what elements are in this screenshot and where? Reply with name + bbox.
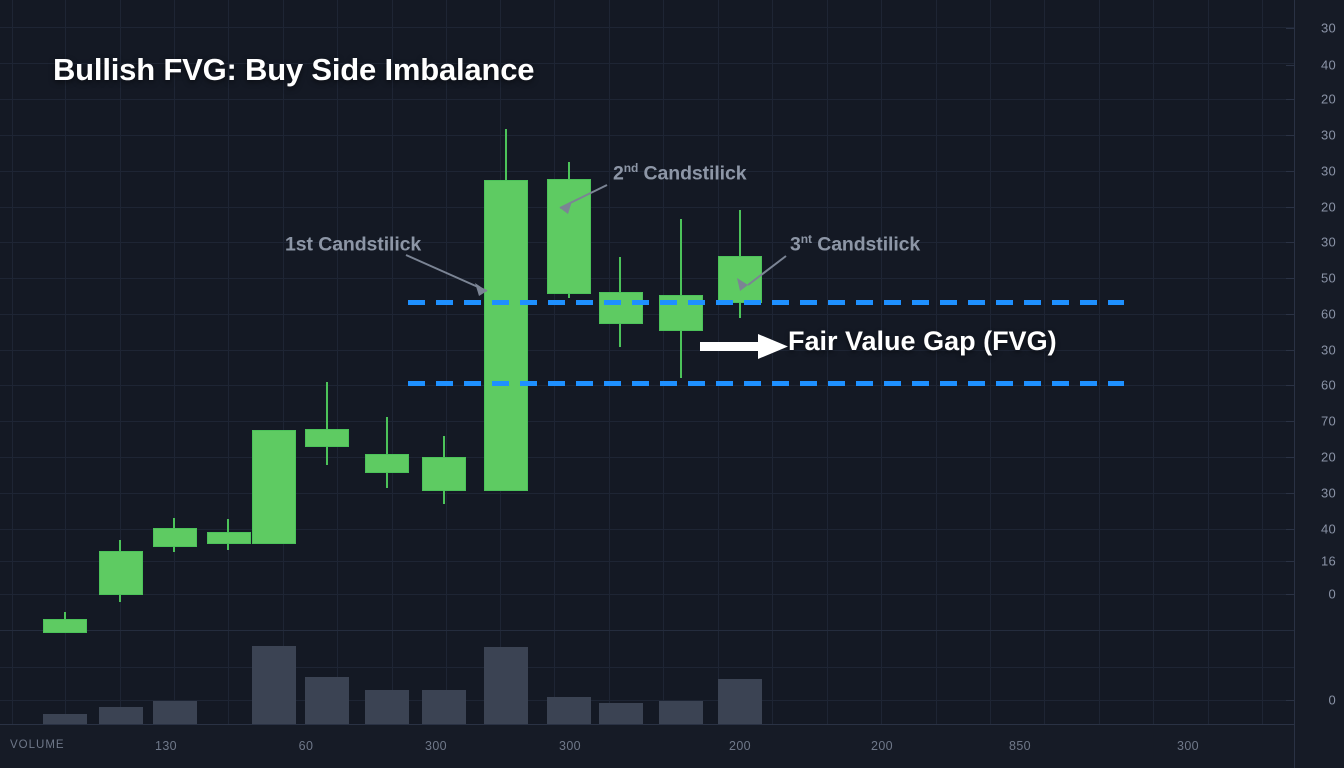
price-axis-label: 50: [1321, 271, 1336, 286]
price-axis-label: 60: [1321, 307, 1336, 322]
time-axis[interactable]: VOLUME 13060300300200200850300: [0, 724, 1294, 768]
price-axis-label: 30: [1321, 486, 1336, 501]
time-axis-label: 300: [425, 739, 447, 753]
time-axis-label: 200: [729, 739, 751, 753]
price-axis-tick: [1286, 594, 1294, 595]
time-axis-label: 850: [1009, 739, 1031, 753]
price-axis-label: 20: [1321, 92, 1336, 107]
price-axis-label: 0: [1328, 587, 1336, 602]
time-axis-label: 60: [299, 739, 314, 753]
price-axis[interactable]: 3040203030203050603060702030401600: [1294, 0, 1344, 768]
time-axis-label: 200: [871, 739, 893, 753]
annotation-second-label: Candstilick: [638, 163, 746, 185]
annotation-second-candlestick: 2nd Candstilick: [613, 161, 746, 186]
price-axis-tick: [1286, 529, 1294, 530]
price-axis-tick: [1286, 561, 1294, 562]
price-axis-label: 20: [1321, 200, 1336, 215]
price-axis-tick: [1286, 700, 1294, 701]
annotation-third-sup: nt: [801, 232, 812, 246]
price-axis-label: 30: [1321, 21, 1336, 36]
annotation-leader-lines: [0, 0, 1344, 768]
price-axis-tick: [1286, 421, 1294, 422]
price-axis-label: 16: [1321, 554, 1336, 569]
price-axis-tick: [1286, 278, 1294, 279]
price-axis-label: 20: [1321, 450, 1336, 465]
price-axis-label: 30: [1321, 164, 1336, 179]
price-axis-tick: [1286, 457, 1294, 458]
annotation-third-candlestick: 3nt Candstilick: [790, 232, 920, 257]
price-axis-tick: [1286, 493, 1294, 494]
price-axis-label: 60: [1321, 378, 1336, 393]
annotation-third-label: Candstilick: [812, 234, 920, 256]
time-axis-label: 130: [155, 739, 177, 753]
price-axis-label: 70: [1321, 414, 1336, 429]
volume-axis-label: VOLUME: [10, 739, 65, 751]
price-axis-tick: [1286, 28, 1294, 29]
price-axis-tick: [1286, 99, 1294, 100]
price-axis-label: 30: [1321, 343, 1336, 358]
price-axis-tick: [1286, 65, 1294, 66]
price-axis-tick: [1286, 135, 1294, 136]
fvg-label: Fair Value Gap (FVG): [788, 326, 1057, 357]
price-axis-tick: [1286, 171, 1294, 172]
price-axis-label: 30: [1321, 235, 1336, 250]
fvg-arrow-icon: [700, 333, 788, 359]
annotation-first-candlestick: 1st Candstilick: [285, 232, 421, 257]
price-axis-label: 40: [1321, 522, 1336, 537]
price-axis-label: 40: [1321, 58, 1336, 73]
price-axis-tick: [1286, 207, 1294, 208]
price-axis-label: 30: [1321, 128, 1336, 143]
price-axis-tick: [1286, 314, 1294, 315]
price-axis-tick: [1286, 242, 1294, 243]
annotation-first-prefix: 1st: [285, 234, 313, 256]
annotation-second-prefix: 2: [613, 163, 624, 185]
price-axis-tick: [1286, 385, 1294, 386]
time-axis-label: 300: [559, 739, 581, 753]
annotation-first-label: Candstilick: [313, 234, 421, 256]
annotation-third-prefix: 3: [790, 234, 801, 256]
price-axis-tick: [1286, 350, 1294, 351]
time-axis-label: 300: [1177, 739, 1199, 753]
annotation-second-sup: nd: [624, 161, 638, 175]
price-axis-label: 0: [1328, 693, 1336, 708]
chart-canvas: Bullish FVG: Buy Side Imbalance 1st Cand…: [0, 0, 1344, 768]
